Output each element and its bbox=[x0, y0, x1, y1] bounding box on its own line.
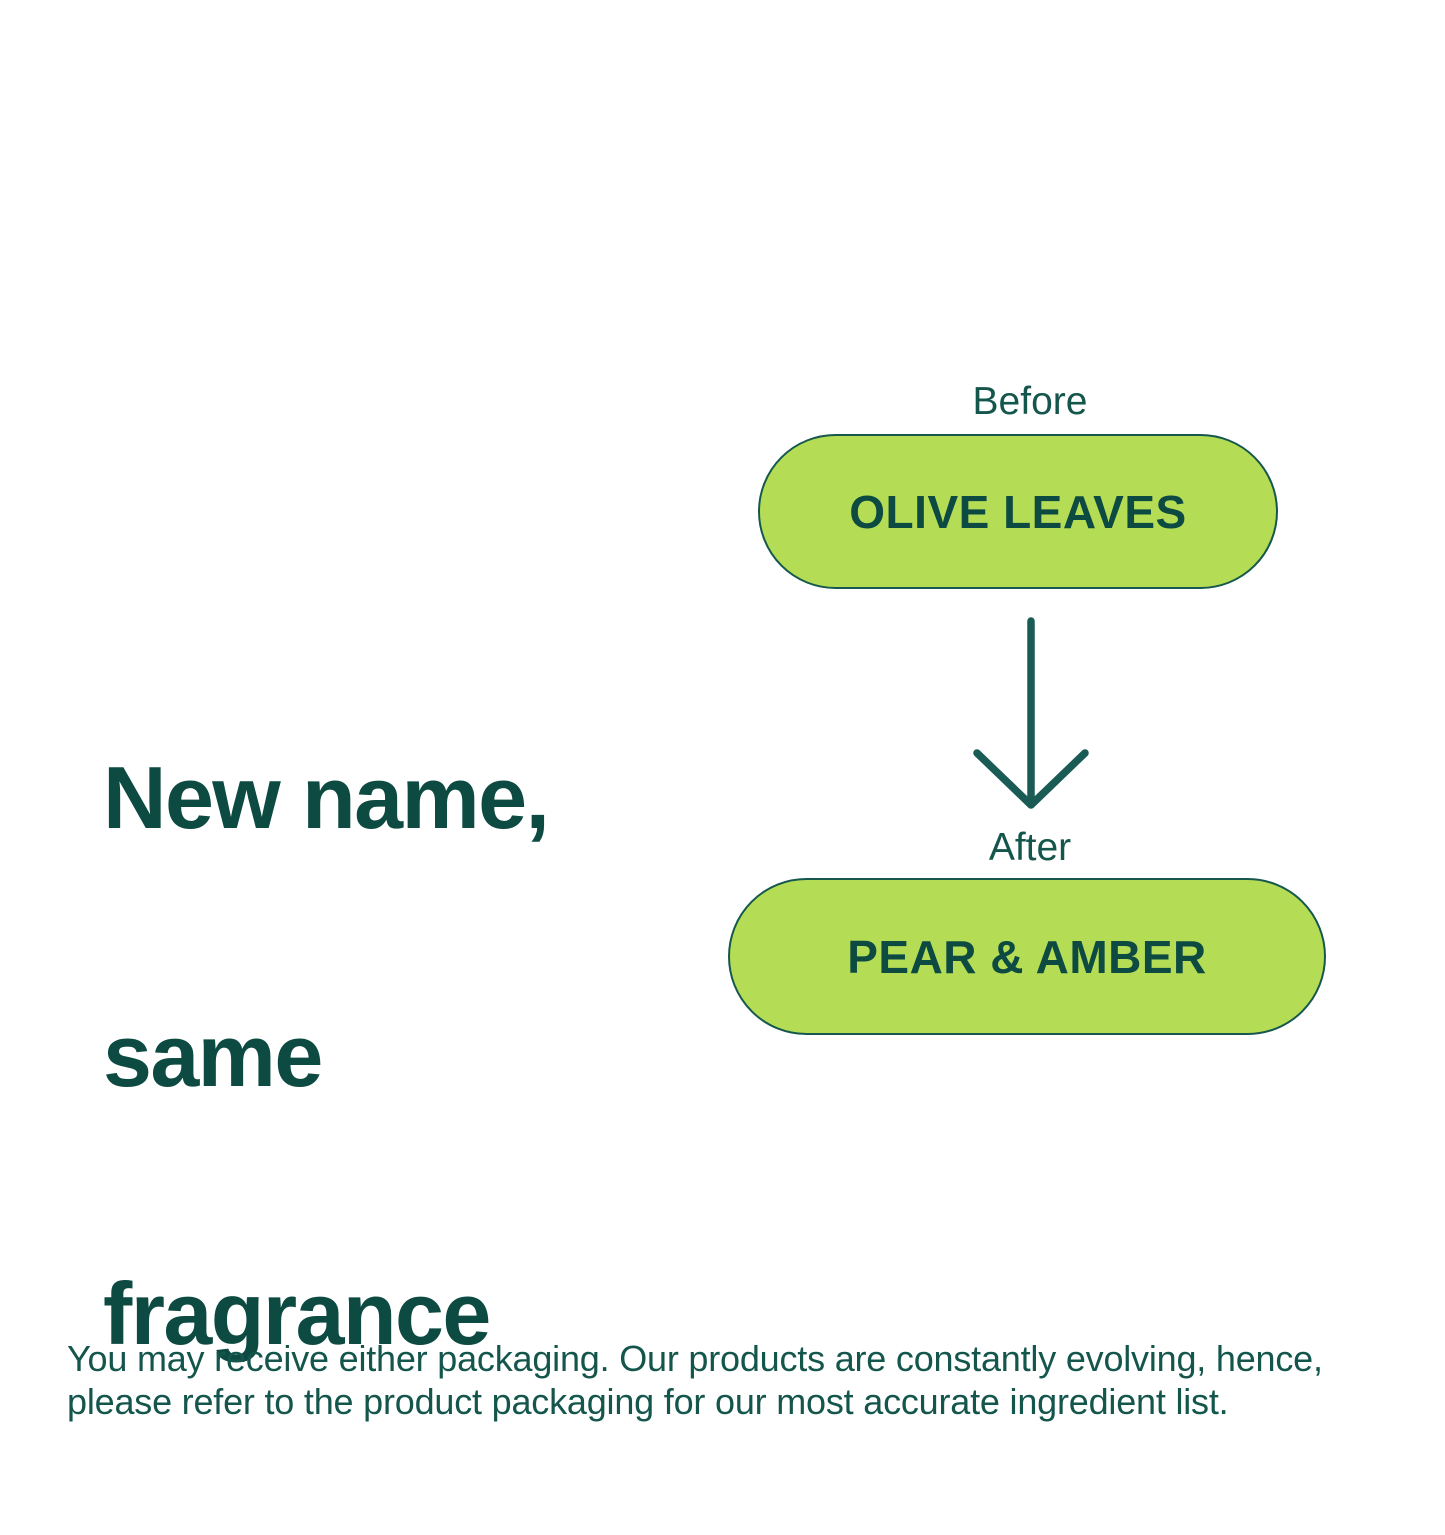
headline-line-1: New name, bbox=[103, 755, 703, 841]
headline-line-2: same bbox=[103, 1013, 703, 1099]
before-pill-olive-leaves: OLIVE LEAVES bbox=[758, 434, 1278, 589]
disclaimer-text: You may receive either packaging. Our pr… bbox=[67, 1337, 1387, 1423]
disclaimer-line-2: please refer to the product packaging fo… bbox=[67, 1380, 1387, 1423]
disclaimer-line-1: You may receive either packaging. Our pr… bbox=[67, 1337, 1387, 1380]
before-after-flow: Before OLIVE LEAVES After PEAR & AMBER bbox=[700, 370, 1360, 1050]
after-pill-pear-amber: PEAR & AMBER bbox=[728, 878, 1326, 1035]
before-label: Before bbox=[700, 382, 1360, 421]
promo-canvas: New name, same fragrance Before OLIVE LE… bbox=[0, 0, 1445, 1445]
after-label: After bbox=[700, 828, 1360, 867]
arrow-down-icon bbox=[951, 615, 1111, 815]
